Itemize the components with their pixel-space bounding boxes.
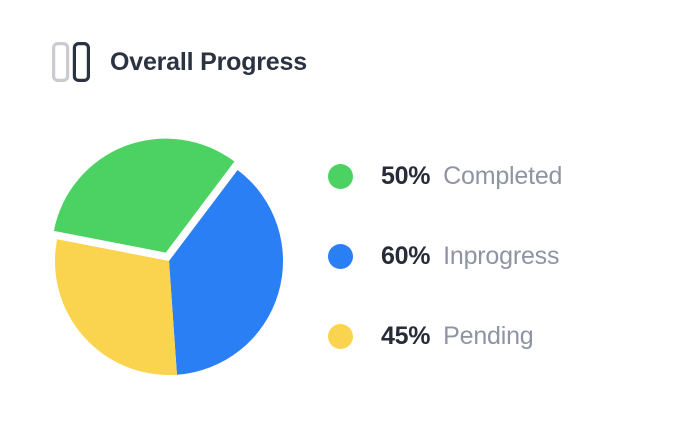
legend-label-inprogress: Inprogress: [443, 242, 559, 271]
legend-value-inprogress: 60%: [381, 242, 430, 271]
legend-item-inprogress[interactable]: 60% Inprogress: [328, 228, 648, 284]
pie-slices: [54, 139, 283, 375]
legend-value-pending: 45%: [381, 322, 430, 351]
legend-color-dot-pending: [328, 324, 353, 349]
page-title: Overall Progress: [110, 50, 307, 75]
overall-progress-card: Overall Progress 50% Completed 60% Inpro…: [0, 0, 692, 428]
legend-color-dot-inprogress: [328, 244, 353, 269]
legend-label-pending: Pending: [443, 322, 533, 351]
pie-chart-svg: [30, 118, 320, 408]
pie-slice-pending[interactable]: [55, 239, 177, 375]
card-header: Overall Progress: [52, 42, 307, 82]
pie-chart: [30, 118, 320, 408]
legend-label-completed: Completed: [443, 162, 562, 191]
chart-legend: 50% Completed 60% Inprogress 45% Pending: [328, 148, 648, 364]
legend-item-pending[interactable]: 45% Pending: [328, 308, 648, 364]
legend-value-completed: 50%: [381, 162, 430, 191]
panels-two-columns-icon: [52, 42, 90, 82]
legend-color-dot-completed: [328, 164, 353, 189]
legend-item-completed[interactable]: 50% Completed: [328, 148, 648, 204]
